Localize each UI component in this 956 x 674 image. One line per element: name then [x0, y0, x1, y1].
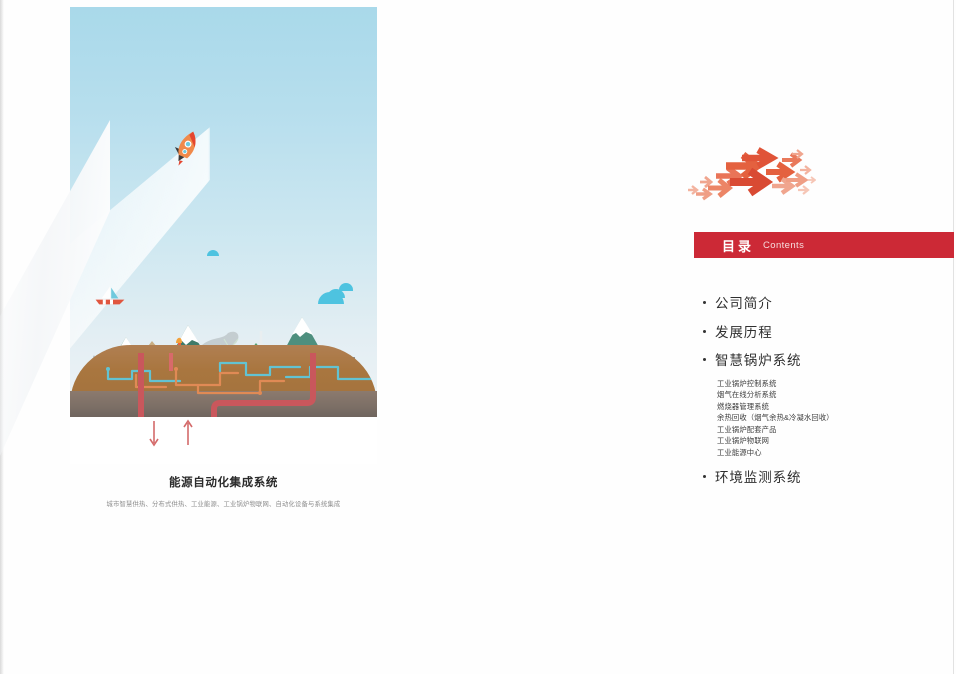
toc-sub-item[interactable]: 工业锅炉物联网 — [717, 435, 953, 447]
toc-title-en: Contents — [763, 240, 804, 251]
cloud-small-4 — [339, 283, 353, 291]
page-right-edge — [953, 0, 954, 674]
bullet-dot-icon — [703, 358, 706, 361]
slide-page: 能源自动化集成系统 城市智慧供热、分布式供热、工业能源、工业锅炉物联网、自动化设… — [0, 0, 956, 674]
toc-sub-list: 工业锅炉控制系统烟气在线分析系统燃烧器管理系统余热回收（烟气余热&冷凝水回收）工… — [717, 378, 953, 459]
toc-title-cn: 目录 — [722, 236, 754, 255]
toc-item[interactable]: 环境监测系统 — [703, 466, 953, 486]
toc-list: 公司简介发展历程智慧锅炉系统工业锅炉控制系统烟气在线分析系统燃烧器管理系统余热回… — [703, 292, 953, 494]
toc-item-label: 智慧锅炉系统 — [715, 349, 801, 369]
toc-sub-item[interactable]: 烟气在线分析系统 — [717, 389, 953, 401]
cover-subtitle: 城市智慧供热、分布式供热、工业能源、工业锅炉物联网、自动化设备与系统集成 — [55, 499, 392, 508]
toc-banner: 目录 Contents — [694, 232, 954, 258]
toc-item[interactable]: 公司简介 — [703, 292, 953, 312]
toc-sub-item[interactable]: 余热回收（烟气余热&冷凝水回收） — [717, 412, 953, 424]
bullet-dot-icon — [703, 475, 706, 478]
bullet-dot-icon — [703, 301, 706, 304]
page-left-edge — [0, 0, 4, 674]
toc-sub-item[interactable]: 工业能源中心 — [717, 447, 953, 459]
cover-title: 能源自动化集成系统 — [70, 474, 377, 490]
cover-illustration — [70, 7, 377, 464]
toc-sub-item[interactable]: 工业锅炉控制系统 — [717, 378, 953, 390]
toc-sub-item[interactable]: 燃烧器管理系统 — [717, 401, 953, 413]
cloud-small-1 — [207, 250, 219, 256]
arrows-cluster-graphic — [686, 146, 816, 204]
toc-item[interactable]: 发展历程 — [703, 321, 953, 341]
pipe-network — [70, 345, 377, 417]
toc-item-label: 发展历程 — [715, 321, 773, 341]
toc-sub-item[interactable]: 工业锅炉配套产品 — [717, 424, 953, 436]
toc-item-label: 环境监测系统 — [715, 466, 801, 486]
toc-item[interactable]: 智慧锅炉系统 — [703, 349, 953, 369]
toc-item-label: 公司简介 — [715, 292, 773, 312]
bullet-dot-icon — [703, 330, 706, 333]
flow-direction-arrows — [70, 417, 377, 464]
